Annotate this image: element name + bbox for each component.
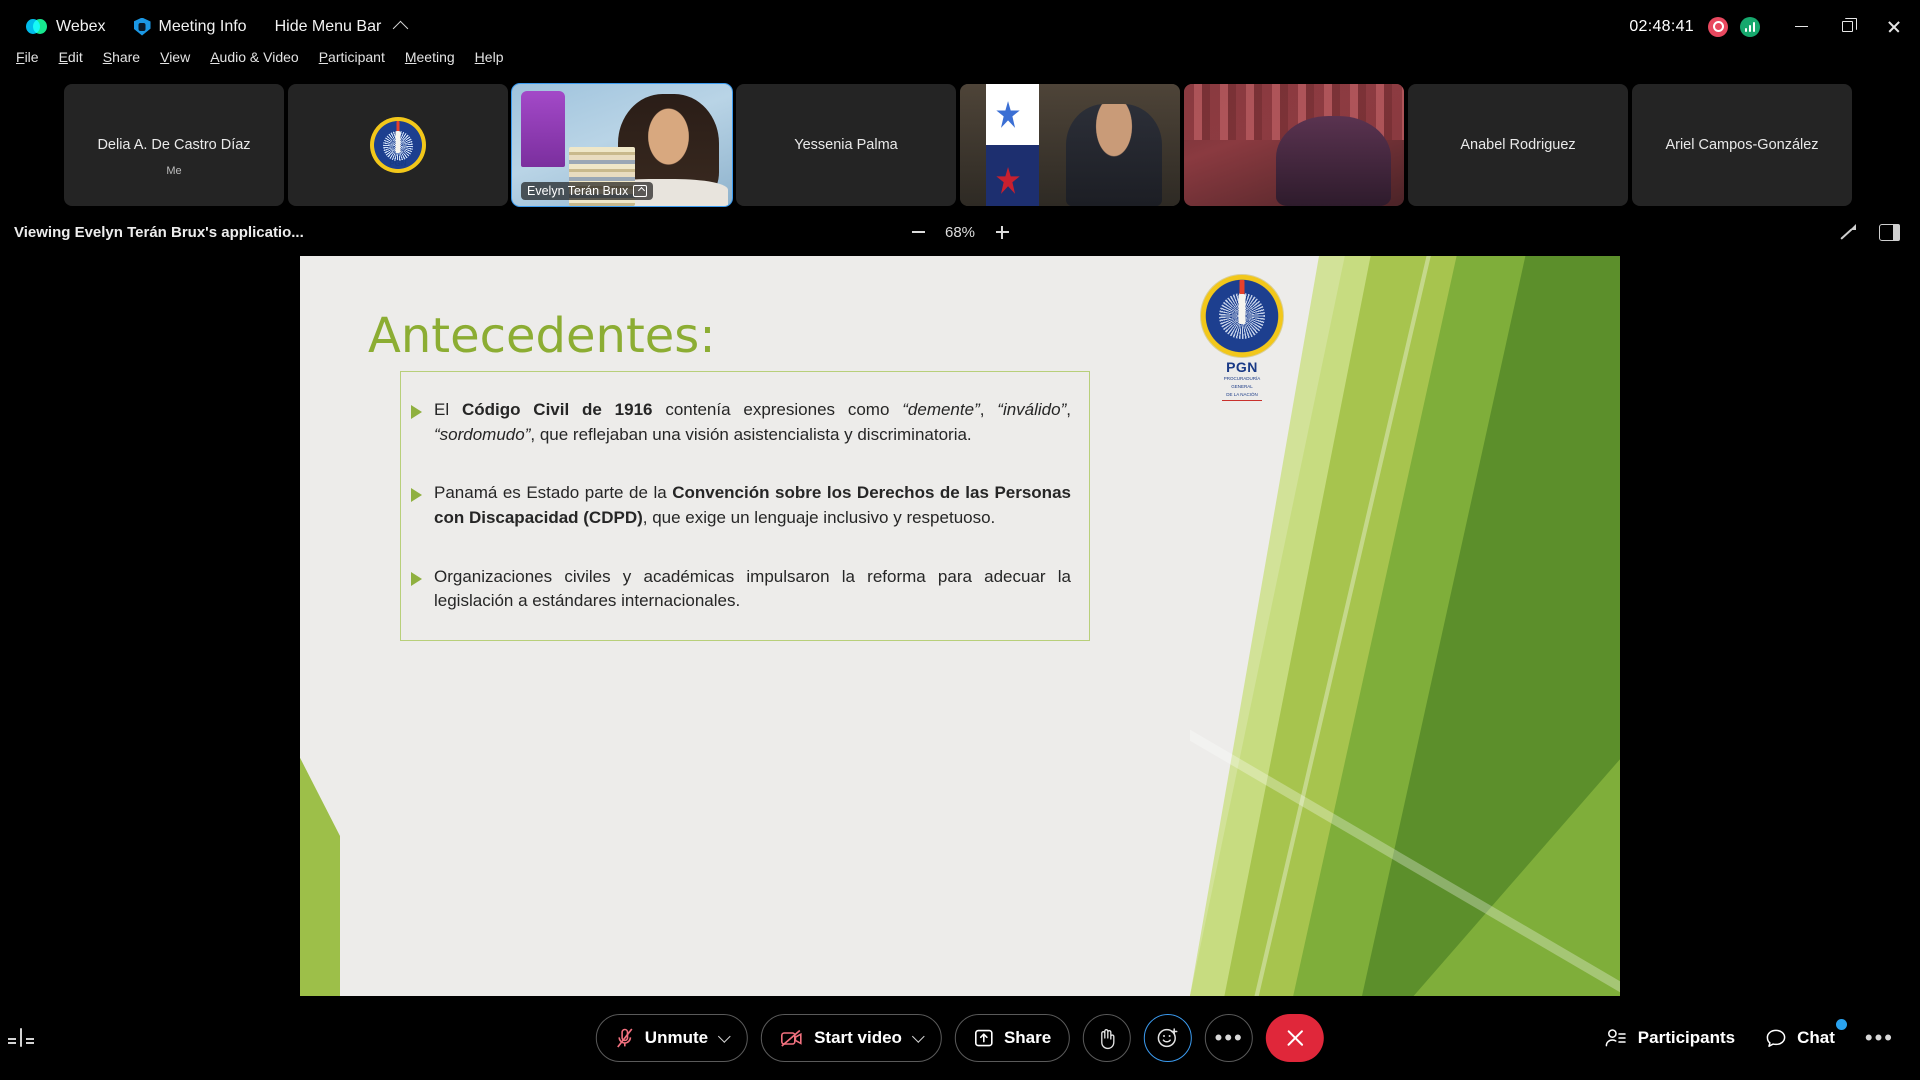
zoom-out-button[interactable] bbox=[907, 221, 929, 243]
participant-filmstrip: Delia A. De Castro Díaz Me PGN Evelyn Te… bbox=[0, 82, 1920, 208]
leave-meeting-button[interactable] bbox=[1266, 1014, 1324, 1062]
closed-captions-icon[interactable] bbox=[20, 1028, 22, 1047]
slide-content-box: El Código Civil de 1916 contenía expresi… bbox=[400, 371, 1090, 641]
pgn-avatar-icon: PGN bbox=[370, 117, 426, 173]
presentation-slide[interactable]: PGN PROCURADURÍA GENERAL DE LA NACIÓN An… bbox=[300, 256, 1620, 996]
menu-bar: File Edit Share View Audio & Video Parti… bbox=[0, 46, 1920, 68]
chat-notification-badge bbox=[1836, 1019, 1847, 1030]
participant-name: Ariel Campos-González bbox=[1632, 137, 1852, 153]
start-video-label: Start video bbox=[814, 1028, 902, 1048]
plus-icon bbox=[996, 226, 1009, 239]
smiley-plus-icon bbox=[1156, 1026, 1180, 1050]
menu-help[interactable]: Help bbox=[465, 47, 514, 67]
bullet-text: Panamá es Estado parte de la Convención … bbox=[434, 481, 1071, 530]
screen-share-icon bbox=[633, 185, 647, 197]
bullet-text: El Código Civil de 1916 contenía expresi… bbox=[434, 398, 1071, 447]
zoom-controls: 68% bbox=[907, 221, 1013, 243]
hide-menu-bar-label: Hide Menu Bar bbox=[275, 18, 382, 36]
meeting-timer: 02:48:41 bbox=[1629, 18, 1694, 36]
slide-decoration-left bbox=[300, 746, 340, 996]
webex-meeting-window: Webex Meeting Info Hide Menu Bar 02:48:4… bbox=[0, 0, 1920, 1080]
more-options-icon: ••• bbox=[1215, 1033, 1244, 1043]
menu-view[interactable]: View bbox=[150, 47, 200, 67]
participants-icon bbox=[1604, 1027, 1628, 1049]
chevron-down-icon[interactable] bbox=[912, 1030, 925, 1043]
pgn-logo: PGN PROCURADURÍA GENERAL DE LA NACIÓN bbox=[1194, 274, 1290, 384]
menu-audio-video[interactable]: Audio & Video bbox=[200, 47, 308, 67]
viewing-label: Viewing Evelyn Terán Brux's applicatio..… bbox=[0, 224, 304, 241]
shield-icon bbox=[134, 18, 151, 36]
participant-thumbnail[interactable] bbox=[1184, 84, 1404, 206]
menu-edit[interactable]: Edit bbox=[49, 47, 93, 67]
close-icon bbox=[1887, 20, 1900, 33]
participant-name: Yessenia Palma bbox=[736, 137, 956, 153]
annotate-icon[interactable] bbox=[1837, 222, 1857, 242]
chat-label: Chat bbox=[1797, 1028, 1835, 1048]
pgn-logo-sub-3: DE LA NACIÓN bbox=[1194, 392, 1290, 399]
unmute-button[interactable]: Unmute bbox=[596, 1014, 748, 1062]
webex-brand: Webex bbox=[12, 10, 120, 44]
participant-thumbnail-active[interactable]: Evelyn Terán Brux bbox=[512, 84, 732, 206]
recording-indicator-icon[interactable] bbox=[1708, 17, 1728, 37]
participant-thumbnail[interactable]: Anabel Rodriguez bbox=[1408, 84, 1628, 206]
participant-thumbnail[interactable]: Yessenia Palma bbox=[736, 84, 956, 206]
more-options-button[interactable]: ••• bbox=[1205, 1014, 1253, 1062]
meeting-info-button[interactable]: Meeting Info bbox=[120, 10, 261, 44]
bullet-text: Organizaciones civiles y académicas impu… bbox=[434, 565, 1071, 614]
participants-label: Participants bbox=[1638, 1028, 1735, 1048]
leave-meeting-icon bbox=[1285, 1028, 1305, 1048]
slide-title: Antecedentes: bbox=[368, 308, 715, 364]
participant-name: Evelyn Terán Brux bbox=[527, 184, 628, 198]
menu-meeting[interactable]: Meeting bbox=[395, 47, 465, 67]
slide-bullet: Panamá es Estado parte de la Convención … bbox=[411, 481, 1071, 530]
chat-button[interactable]: Chat bbox=[1765, 1028, 1835, 1049]
meeting-controls-bar: Unmute Start video Share bbox=[0, 996, 1920, 1080]
maximize-icon bbox=[1842, 21, 1853, 32]
shared-content-stage: PGN PROCURADURÍA GENERAL DE LA NACIÓN An… bbox=[0, 256, 1920, 996]
bullet-triangle-icon bbox=[411, 572, 422, 586]
participant-name: Anabel Rodriguez bbox=[1408, 137, 1628, 153]
chat-bubble-icon bbox=[1765, 1028, 1787, 1049]
chevron-up-icon bbox=[393, 21, 409, 37]
toolbar-more-button[interactable]: ••• bbox=[1865, 1033, 1894, 1043]
view-layout-icon[interactable] bbox=[1879, 224, 1900, 241]
slide-bullet: Organizaciones civiles y académicas impu… bbox=[411, 565, 1071, 614]
participants-button[interactable]: Participants bbox=[1604, 1027, 1735, 1049]
camera-off-icon bbox=[780, 1028, 804, 1048]
participant-thumbnail[interactable]: PGN bbox=[288, 84, 508, 206]
meeting-info-label: Meeting Info bbox=[159, 18, 247, 36]
share-label: Share bbox=[1004, 1028, 1051, 1048]
close-window-button[interactable] bbox=[1870, 7, 1916, 47]
unmute-label: Unmute bbox=[645, 1028, 708, 1048]
webex-logo-icon bbox=[26, 19, 48, 35]
zoom-in-button[interactable] bbox=[991, 221, 1013, 243]
pgn-logo-sub-2: GENERAL bbox=[1194, 384, 1290, 391]
hand-icon bbox=[1097, 1027, 1118, 1050]
bullet-triangle-icon bbox=[411, 488, 422, 502]
participant-thumbnail[interactable]: Delia A. De Castro Díaz Me bbox=[64, 84, 284, 206]
pgn-logo-sub-1: PROCURADURÍA bbox=[1194, 376, 1290, 383]
network-signal-icon[interactable] bbox=[1740, 17, 1760, 37]
menu-file[interactable]: File bbox=[6, 47, 49, 67]
bullet-triangle-icon bbox=[411, 405, 422, 419]
share-status-bar: Viewing Evelyn Terán Brux's applicatio..… bbox=[0, 210, 1920, 254]
active-speaker-badge: Evelyn Terán Brux bbox=[521, 182, 653, 200]
participant-video bbox=[960, 84, 1180, 206]
participant-thumbnail[interactable]: Ariel Campos-González bbox=[1632, 84, 1852, 206]
participant-self-label: Me bbox=[64, 165, 284, 177]
microphone-muted-icon bbox=[615, 1027, 635, 1049]
pgn-logo-name: PGN bbox=[1194, 359, 1290, 375]
zoom-level-label: 68% bbox=[945, 224, 975, 241]
share-button[interactable]: Share bbox=[955, 1014, 1070, 1062]
participant-video bbox=[1184, 84, 1404, 206]
share-screen-icon bbox=[974, 1028, 994, 1048]
minimize-button[interactable] bbox=[1778, 7, 1824, 47]
participant-name: Delia A. De Castro Díaz bbox=[64, 137, 284, 153]
slide-bullet: El Código Civil de 1916 contenía expresi… bbox=[411, 398, 1071, 447]
minus-icon bbox=[911, 231, 924, 233]
raise-hand-button[interactable] bbox=[1083, 1014, 1131, 1062]
chevron-down-icon[interactable] bbox=[718, 1030, 731, 1043]
start-video-button[interactable]: Start video bbox=[761, 1014, 942, 1062]
minimize-icon bbox=[1795, 26, 1808, 28]
participant-thumbnail[interactable] bbox=[960, 84, 1180, 206]
maximize-button[interactable] bbox=[1824, 7, 1870, 47]
app-name-label: Webex bbox=[56, 18, 106, 36]
menu-share[interactable]: Share bbox=[93, 47, 150, 67]
hide-menu-bar-button[interactable]: Hide Menu Bar bbox=[261, 10, 421, 44]
reactions-button[interactable] bbox=[1144, 1014, 1192, 1062]
menu-participant[interactable]: Participant bbox=[309, 47, 395, 67]
